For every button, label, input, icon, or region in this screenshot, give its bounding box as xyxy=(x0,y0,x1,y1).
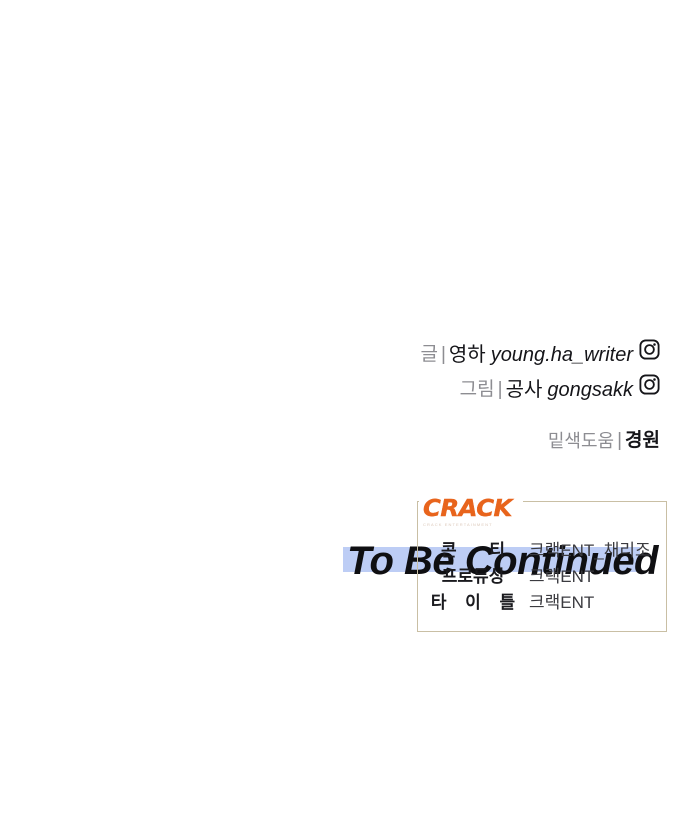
credit-name: 영하 xyxy=(449,344,486,366)
credit-line-artist: 그림|공사gongsakk xyxy=(0,375,660,405)
studio-row-value: 크랙ENT xyxy=(529,588,594,613)
credit-handle: gongsakk xyxy=(542,379,633,401)
credit-role-label: 그림 xyxy=(460,379,495,400)
studio-row-label: 콘 티 xyxy=(417,536,529,561)
credit-role-label: 밑색도움 xyxy=(548,431,614,451)
studio-row-label: 타 이 틀 xyxy=(417,588,529,613)
webtoon-end-card: To Be Continued 글|영하young.ha_writer 그림|공… xyxy=(0,0,690,834)
crack-logo-wordmark: CRACK xyxy=(423,498,529,521)
credit-role-label: 글 xyxy=(420,344,437,365)
credit-separator: | xyxy=(495,379,506,400)
to-be-continued-block: To Be Continued xyxy=(0,268,690,324)
studio-row: 타 이 틀 크랙ENT xyxy=(417,588,667,614)
instagram-icon[interactable] xyxy=(639,374,660,404)
studio-credit-rows: 콘 티 크랙ENT_채리조 프로듀싱 크랙ENT 타 이 틀 크랙ENT xyxy=(417,536,667,614)
credit-name: 공사 xyxy=(506,379,543,401)
crack-logo: CRACK CRACK ENTERTAINMENT xyxy=(423,498,523,528)
crack-logo-subtitle: CRACK ENTERTAINMENT xyxy=(423,522,523,528)
studio-row: 콘 티 크랙ENT_채리조 xyxy=(417,536,667,562)
studio-row-value: 크랙ENT xyxy=(529,562,594,587)
credit-line-color-assist: 밑색도움|경원 xyxy=(0,428,660,454)
studio-row-label: 프로듀싱 xyxy=(417,562,529,587)
credit-separator: | xyxy=(614,430,625,451)
studio-row: 프로듀싱 크랙ENT xyxy=(417,562,667,588)
instagram-icon[interactable] xyxy=(639,339,660,369)
studio-row-value: 크랙ENT_채리조 xyxy=(529,536,651,561)
credit-handle: young.ha_writer xyxy=(486,344,633,366)
credit-separator: | xyxy=(438,344,449,365)
credit-name: 경원 xyxy=(625,430,660,451)
credit-line-writer: 글|영하young.ha_writer xyxy=(0,340,660,370)
